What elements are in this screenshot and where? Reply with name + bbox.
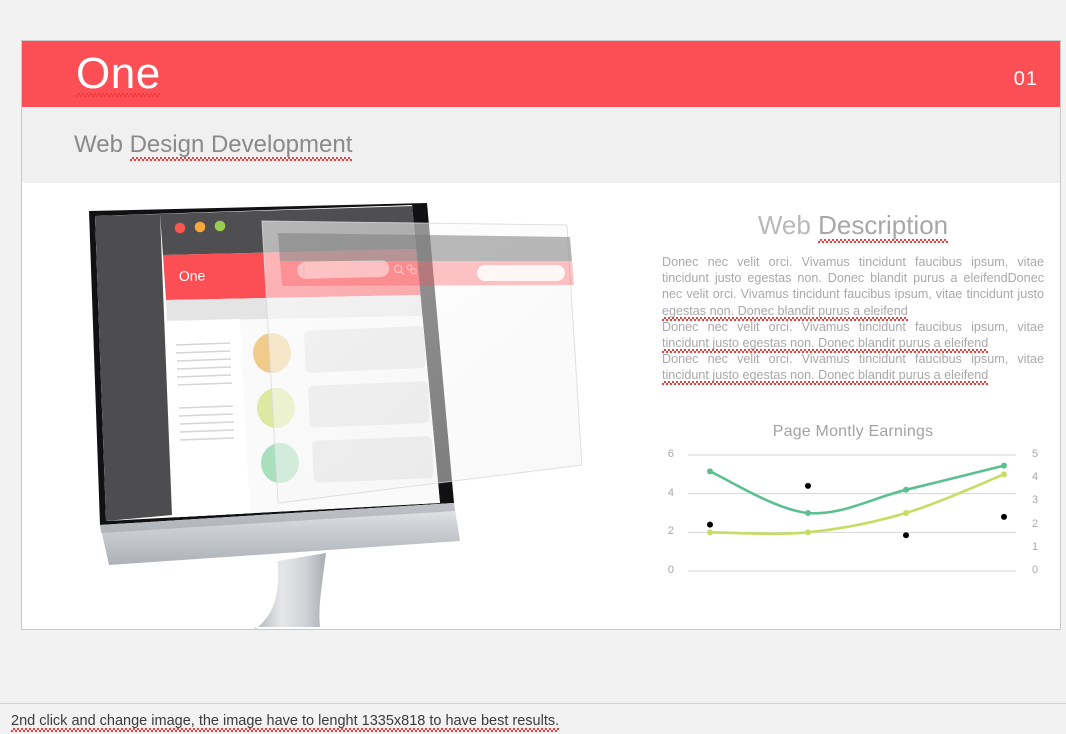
monitor-body: One: [82, 203, 582, 533]
chart-title: Page Montly Earnings: [658, 423, 1048, 441]
chart-svg: [658, 449, 1048, 589]
browser-sidebar: [167, 319, 250, 518]
y-axis-right-tick: 0: [1032, 565, 1048, 576]
status-message-text: 2nd click and change image, the image ha…: [11, 713, 559, 729]
y-axis-right-tick: 2: [1032, 519, 1048, 530]
status-message: 2nd click and change image, the image ha…: [11, 713, 559, 729]
chart-data-point: [1001, 463, 1007, 469]
slide-subtitle[interactable]: Web Design Development: [74, 131, 352, 159]
description-paragraph-text: Donec nec velit orci. Vivamus tincidunt …: [662, 255, 1044, 318]
chart-series-line: [710, 474, 1004, 533]
chart-data-point: [707, 468, 713, 474]
y-axis-right-tick: 3: [1032, 495, 1048, 506]
brand-label: One: [179, 267, 206, 284]
page-title[interactable]: One: [76, 47, 161, 101]
description-paragraph-text: Donec nec velit orci. Vivamus tincidunt …: [662, 352, 1044, 382]
page-title-text: One: [76, 49, 161, 98]
chart-data-point: [805, 483, 811, 489]
y-axis-right-tick: 1: [1032, 542, 1048, 553]
chart-data-point: [707, 529, 713, 535]
chart-data-point: [903, 487, 909, 493]
description-heading-plain: Web: [758, 210, 818, 240]
y-axis-right-tick: 4: [1032, 472, 1048, 483]
y-axis-right-tick: 5: [1032, 449, 1048, 460]
monitor-stand-foot: [254, 627, 382, 630]
description-paragraph[interactable]: Donec nec velit orci. Vivamus tincidunt …: [662, 319, 1044, 351]
y-axis-left-tick: 4: [658, 488, 674, 499]
description-column: Web Description Donec nec velit orci. Vi…: [658, 209, 1048, 384]
y-axis-left-tick: 0: [658, 565, 674, 576]
description-paragraph-text: Donec nec velit orci. Vivamus tincidunt …: [662, 320, 1044, 350]
y-axis-left-tick: 2: [658, 526, 674, 537]
chart-data-point: [903, 532, 909, 538]
subtitle-band: Web Design Development: [22, 107, 1060, 183]
description-paragraph[interactable]: Donec nec velit orci. Vivamus tincidunt …: [662, 254, 1044, 319]
traffic-light-green: [215, 221, 226, 232]
traffic-light-red: [175, 223, 186, 234]
chart-plot-area[interactable]: 6420543210: [658, 449, 1048, 589]
chart-series-line: [710, 466, 1004, 514]
subtitle-plain: Web: [74, 131, 130, 158]
y-axis-left-tick: 6: [658, 449, 674, 460]
description-heading-emphasis: Description: [818, 210, 948, 240]
chart-data-point: [805, 529, 811, 535]
subtitle-emphasis: Design Development: [130, 131, 353, 158]
slide-canvas[interactable]: One 01 Web Design Development: [21, 40, 1061, 630]
description-paragraph[interactable]: Donec nec velit orci. Vivamus tincidunt …: [662, 351, 1044, 383]
chart-data-point: [1001, 514, 1007, 520]
chart-data-point: [805, 510, 811, 516]
slide-content: One: [22, 183, 1060, 629]
description-heading[interactable]: Web Description: [658, 209, 1048, 241]
desktop-monitor-illustration[interactable]: One: [82, 203, 662, 630]
status-bar: 2nd click and change image, the image ha…: [0, 703, 1066, 734]
page-number: 01: [1014, 68, 1038, 91]
earnings-chart[interactable]: Page Montly Earnings 6420543210: [658, 423, 1048, 588]
monitor-stand-neck: [258, 553, 326, 627]
chart-data-point: [1001, 471, 1007, 477]
chart-data-point: [903, 510, 909, 516]
chart-data-point: [707, 522, 713, 528]
traffic-light-yellow: [195, 222, 206, 233]
title-band: One 01: [22, 41, 1060, 107]
